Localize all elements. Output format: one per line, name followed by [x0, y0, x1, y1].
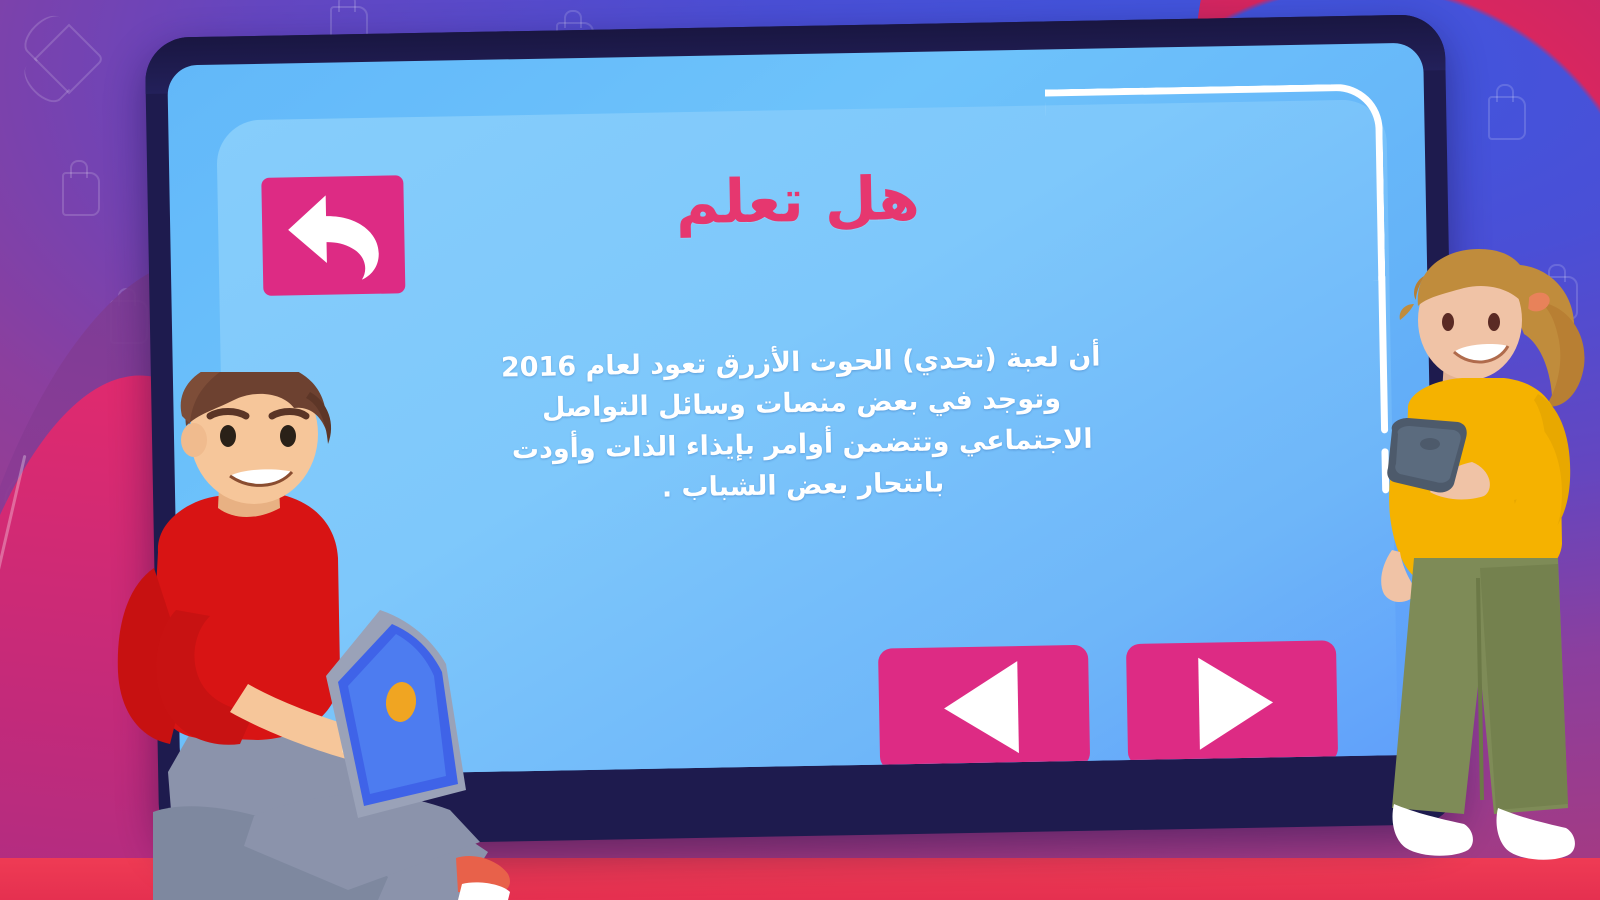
slide-screen: هل تعلم أن لعبة (تحدي) الحوت الأزرق تعود… [0, 0, 1600, 900]
previous-button[interactable] [878, 645, 1090, 771]
thumbs-up-outline-icon [62, 172, 100, 216]
boy-with-laptop-illustration [58, 372, 528, 900]
slide-body-text: أن لعبة (تحدي) الحوت الأزرق تعود لعام 20… [500, 337, 1103, 512]
girl-with-phone-illustration [1352, 248, 1600, 900]
triangle-right-icon [1198, 656, 1274, 749]
triangle-left-icon [943, 661, 1019, 754]
next-button[interactable] [1126, 640, 1338, 766]
thumbs-up-outline-icon [1488, 96, 1526, 140]
